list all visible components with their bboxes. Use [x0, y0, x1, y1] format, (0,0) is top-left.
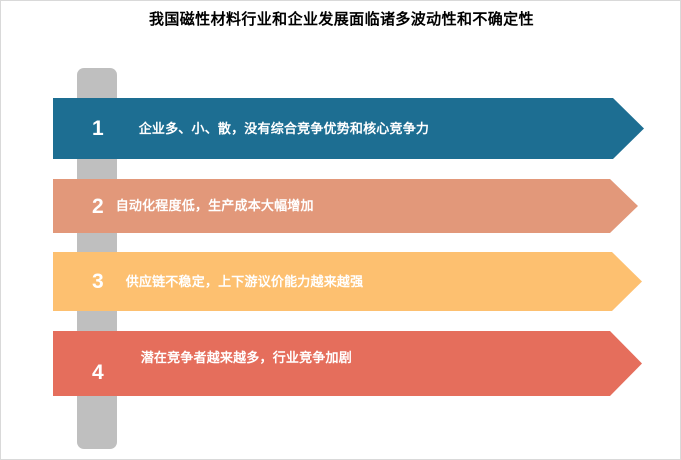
arrow-item-3[interactable]: 3 供应链不稳定，上下游议价能力越来越强	[53, 252, 642, 311]
arrow-item-4[interactable]: 4 潜在竞争者越来越多，行业竞争加剧	[53, 331, 642, 396]
arrow-item-2[interactable]: 2 自动化程度低，生产成本大幅增加	[53, 179, 638, 233]
arrow-label-2: 自动化程度低，生产成本大幅增加	[116, 198, 314, 214]
arrow-number-1: 1	[92, 118, 104, 139]
slide-canvas: 我国磁性材料行业和企业发展面临诸多波动性和不确定性 1 企业多、小、散，没有综合…	[0, 0, 681, 460]
arrow-item-1[interactable]: 1 企业多、小、散，没有综合竞争优势和核心竞争力	[53, 98, 644, 159]
arrow-label-4: 潜在竞争者越来越多，行业竞争加剧	[141, 350, 352, 366]
arrow-label-1: 企业多、小、散，没有综合竞争优势和核心竞争力	[139, 121, 429, 137]
arrow-number-4: 4	[92, 362, 104, 383]
arrow-number-2: 2	[92, 196, 104, 217]
arrow-label-3: 供应链不稳定，上下游议价能力越来越强	[126, 274, 364, 290]
arrow-number-3: 3	[92, 271, 104, 292]
page-title: 我国磁性材料行业和企业发展面临诸多波动性和不确定性	[1, 10, 681, 30]
